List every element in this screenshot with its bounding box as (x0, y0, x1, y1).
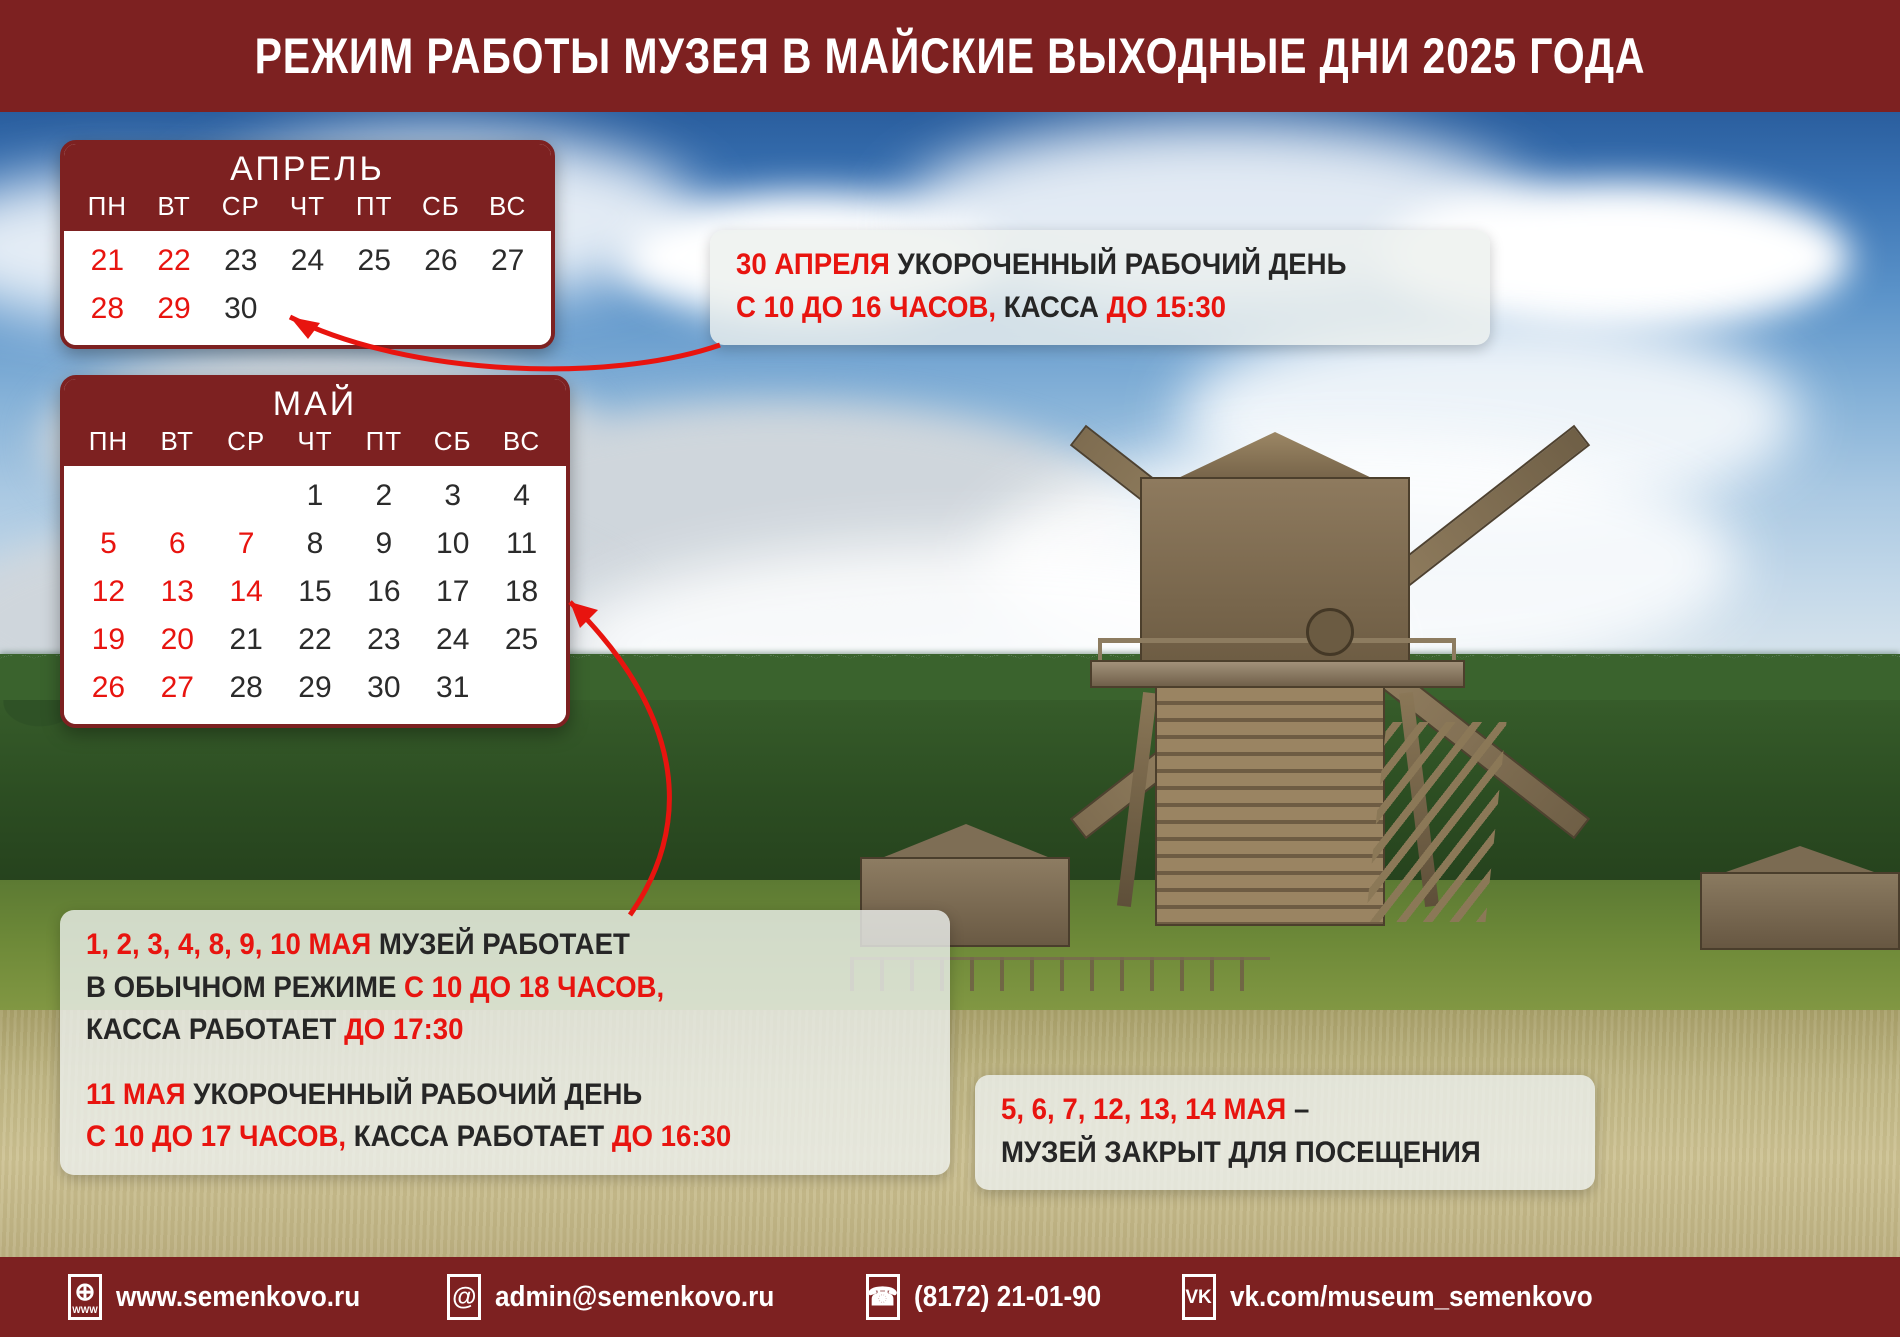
callout-april-schedule: 30 АПРЕЛЯ УКОРОЧЕННЫЙ РАБОЧИЙ ДЕНЬ С 10 … (710, 230, 1490, 345)
highlight-cashdesk: ДО 17:30 (344, 1013, 463, 1046)
windmill-gallery (1090, 660, 1465, 688)
calendar-day: 17 (418, 568, 487, 616)
calendar-day: 8 (281, 520, 350, 568)
calendar-day-grid: 21222324252627282930 (64, 231, 551, 345)
calendar-day-empty (74, 472, 143, 520)
callout-line: 1, 2, 3, 4, 8, 9, 10 МАЯ МУЗЕЙ РАБОТАЕТ (86, 924, 857, 967)
highlight-dates: 1, 2, 3, 4, 8, 9, 10 МАЯ (86, 928, 371, 961)
calendar-day: 23 (349, 616, 418, 664)
calendar-may: МАЙ ПН ВТ СР ЧТ ПТ СБ ВС 123456789101112… (60, 375, 570, 728)
highlight-cashdesk: ДО 15:30 (1107, 291, 1226, 324)
calendar-day-empty (474, 285, 541, 333)
weekday-label: ЧТ (274, 191, 341, 222)
header-bar: РЕЖИМ РАБОТЫ МУЗЕЯ В МАЙСКИЕ ВЫХОДНЫЕ ДН… (0, 0, 1900, 112)
highlight-date: 30 АПРЕЛЯ (736, 248, 890, 281)
weekday-label: СБ (418, 426, 487, 457)
windmill-illustration (980, 302, 1680, 1092)
calendar-april: АПРЕЛЬ ПН ВТ СР ЧТ ПТ СБ ВС 212223242526… (60, 140, 555, 349)
calendar-day: 26 (408, 237, 475, 285)
windmill-hub (1306, 608, 1354, 656)
calendar-day: 12 (74, 568, 143, 616)
calendar-day: 21 (74, 237, 141, 285)
calendar-day: 14 (212, 568, 281, 616)
footer-email-text: admin@semenkovo.ru (495, 1281, 774, 1314)
weekday-label: СР (212, 426, 281, 457)
callout-line: КАССА РАБОТАЕТ ДО 17:30 (86, 1009, 857, 1052)
callout-text: УКОРОЧЕННЫЙ РАБОЧИЙ ДЕНЬ (890, 248, 1347, 281)
weekday-label: ВС (487, 426, 556, 457)
calendar-day: 20 (143, 616, 212, 664)
calendar-header: АПРЕЛЬ ПН ВТ СР ЧТ ПТ СБ ВС (64, 144, 551, 231)
callout-may-closed-days: 5, 6, 7, 12, 13, 14 МАЯ – МУЗЕЙ ЗАКРЫТ Д… (975, 1075, 1595, 1190)
callout-text: – (1286, 1093, 1309, 1126)
calendar-day: 10 (418, 520, 487, 568)
calendar-day-empty (212, 472, 281, 520)
calendar-day: 2 (349, 472, 418, 520)
at-sign-icon: @ (447, 1274, 481, 1320)
callout-text: МУЗЕЙ РАБОТАЕТ (371, 928, 630, 961)
calendar-day: 4 (487, 472, 556, 520)
calendar-day: 24 (274, 237, 341, 285)
highlight-hours: С 10 ДО 16 ЧАСОВ, (736, 291, 996, 324)
calendar-day-empty (487, 664, 556, 712)
footer-phone[interactable]: ☎ (8172) 21-01-90 (866, 1274, 1122, 1320)
weekday-label: СБ (408, 191, 475, 222)
calendar-day: 30 (349, 664, 418, 712)
callout-line: С 10 ДО 17 ЧАСОВ, КАССА РАБОТАЕТ ДО 16:3… (86, 1116, 857, 1159)
barn-building (1700, 872, 1900, 950)
calendar-day: 6 (143, 520, 212, 568)
footer-contact-bar: ⊕WWW www.semenkovo.ru @ admin@semenkovo.… (0, 1257, 1900, 1337)
callout-line: 11 МАЯ УКОРОЧЕННЫЙ РАБОЧИЙ ДЕНЬ (86, 1074, 857, 1117)
weekday-label: ВТ (141, 191, 208, 222)
calendar-day: 13 (143, 568, 212, 616)
calendar-day: 21 (212, 616, 281, 664)
calendar-day: 28 (212, 664, 281, 712)
calendar-day: 5 (74, 520, 143, 568)
calendar-day: 22 (281, 616, 350, 664)
highlight-hours: С 10 ДО 18 ЧАСОВ, (404, 971, 664, 1004)
calendar-day-empty (341, 285, 408, 333)
footer-website-text: www.semenkovo.ru (116, 1281, 360, 1314)
calendar-month-label: МАЙ (64, 385, 566, 426)
vk-icon: VK (1182, 1274, 1216, 1320)
calendar-day: 31 (418, 664, 487, 712)
phone-icon: ☎ (866, 1274, 900, 1320)
weekday-label: ПН (74, 191, 141, 222)
windmill-log-base (1155, 686, 1385, 926)
weekday-label: ПТ (349, 426, 418, 457)
highlight-cashdesk: ДО 16:30 (612, 1120, 731, 1153)
highlight-hours: С 10 ДО 17 ЧАСОВ, (86, 1120, 346, 1153)
callout-line: С 10 ДО 16 ЧАСОВ, КАССА ДО 15:30 (736, 287, 1406, 330)
calendar-header: МАЙ ПН ВТ СР ЧТ ПТ СБ ВС (64, 379, 566, 466)
callout-line: 30 АПРЕЛЯ УКОРОЧЕННЫЙ РАБОЧИЙ ДЕНЬ (736, 244, 1406, 287)
callout-line: В ОБЫЧНОМ РЕЖИМЕ С 10 ДО 18 ЧАСОВ, (86, 967, 857, 1010)
calendar-day: 18 (487, 568, 556, 616)
calendar-day: 27 (474, 237, 541, 285)
weekday-label: ПТ (341, 191, 408, 222)
calendar-day-empty (408, 285, 475, 333)
calendar-day: 27 (143, 664, 212, 712)
footer-email[interactable]: @ admin@semenkovo.ru (447, 1274, 805, 1320)
highlight-date: 11 МАЯ (86, 1078, 186, 1111)
callout-may-open-schedule: 1, 2, 3, 4, 8, 9, 10 МАЯ МУЗЕЙ РАБОТАЕТ … (60, 910, 950, 1175)
calendar-day: 1 (281, 472, 350, 520)
footer-website[interactable]: ⊕WWW www.semenkovo.ru (68, 1274, 387, 1320)
callout-text: КАССА РАБОТАЕТ (346, 1120, 612, 1153)
windmill-stairs (1365, 722, 1506, 922)
page-title: РЕЖИМ РАБОТЫ МУЗЕЯ В МАЙСКИЕ ВЫХОДНЫЕ ДН… (255, 27, 1646, 85)
calendar-day-empty (274, 285, 341, 333)
weekday-label: ВС (474, 191, 541, 222)
callout-text: УКОРОЧЕННЫЙ РАБОЧИЙ ДЕНЬ (186, 1078, 643, 1111)
calendar-day: 26 (74, 664, 143, 712)
footer-phone-text: (8172) 21-01-90 (914, 1281, 1101, 1314)
calendar-day: 19 (74, 616, 143, 664)
calendar-day: 29 (281, 664, 350, 712)
calendar-day: 11 (487, 520, 556, 568)
weekday-label: ВТ (143, 426, 212, 457)
callout-text: КАССА РАБОТАЕТ (86, 1013, 344, 1046)
callout-line: МУЗЕЙ ЗАКРЫТ ДЛЯ ПОСЕЩЕНИЯ (1001, 1132, 1524, 1175)
calendar-weekday-row: ПН ВТ СР ЧТ ПТ СБ ВС (64, 426, 566, 464)
callout-line: 5, 6, 7, 12, 13, 14 МАЯ – (1001, 1089, 1524, 1132)
calendar-day: 22 (141, 237, 208, 285)
calendar-day: 30 (207, 285, 274, 333)
highlight-dates: 5, 6, 7, 12, 13, 14 МАЯ (1001, 1093, 1286, 1126)
calendar-day: 3 (418, 472, 487, 520)
footer-vk[interactable]: VK vk.com/museum_semenkovo (1182, 1274, 1633, 1320)
weekday-label: ПН (74, 426, 143, 457)
calendar-day-grid: 1234567891011121314151617181920212223242… (64, 466, 566, 724)
calendar-day: 25 (487, 616, 556, 664)
poster-root: РЕЖИМ РАБОТЫ МУЗЕЯ В МАЙСКИЕ ВЫХОДНЫЕ ДН… (0, 0, 1900, 1337)
calendar-day-empty (143, 472, 212, 520)
calendar-day: 25 (341, 237, 408, 285)
calendar-day: 24 (418, 616, 487, 664)
weekday-label: ЧТ (281, 426, 350, 457)
calendar-weekday-row: ПН ВТ СР ЧТ ПТ СБ ВС (64, 191, 551, 229)
calendar-day: 9 (349, 520, 418, 568)
calendar-month-label: АПРЕЛЬ (64, 150, 551, 191)
callout-text: КАССА (996, 291, 1107, 324)
calendar-day: 23 (207, 237, 274, 285)
windmill-railing (1098, 638, 1456, 662)
calendar-day: 29 (141, 285, 208, 333)
calendar-day: 28 (74, 285, 141, 333)
globe-www-icon: ⊕WWW (68, 1274, 102, 1320)
weekday-label: СР (207, 191, 274, 222)
footer-vk-text: vk.com/museum_semenkovo (1230, 1281, 1593, 1314)
calendar-day: 15 (281, 568, 350, 616)
callout-text: В ОБЫЧНОМ РЕЖИМЕ (86, 971, 404, 1004)
calendar-day: 7 (212, 520, 281, 568)
calendar-day: 16 (349, 568, 418, 616)
